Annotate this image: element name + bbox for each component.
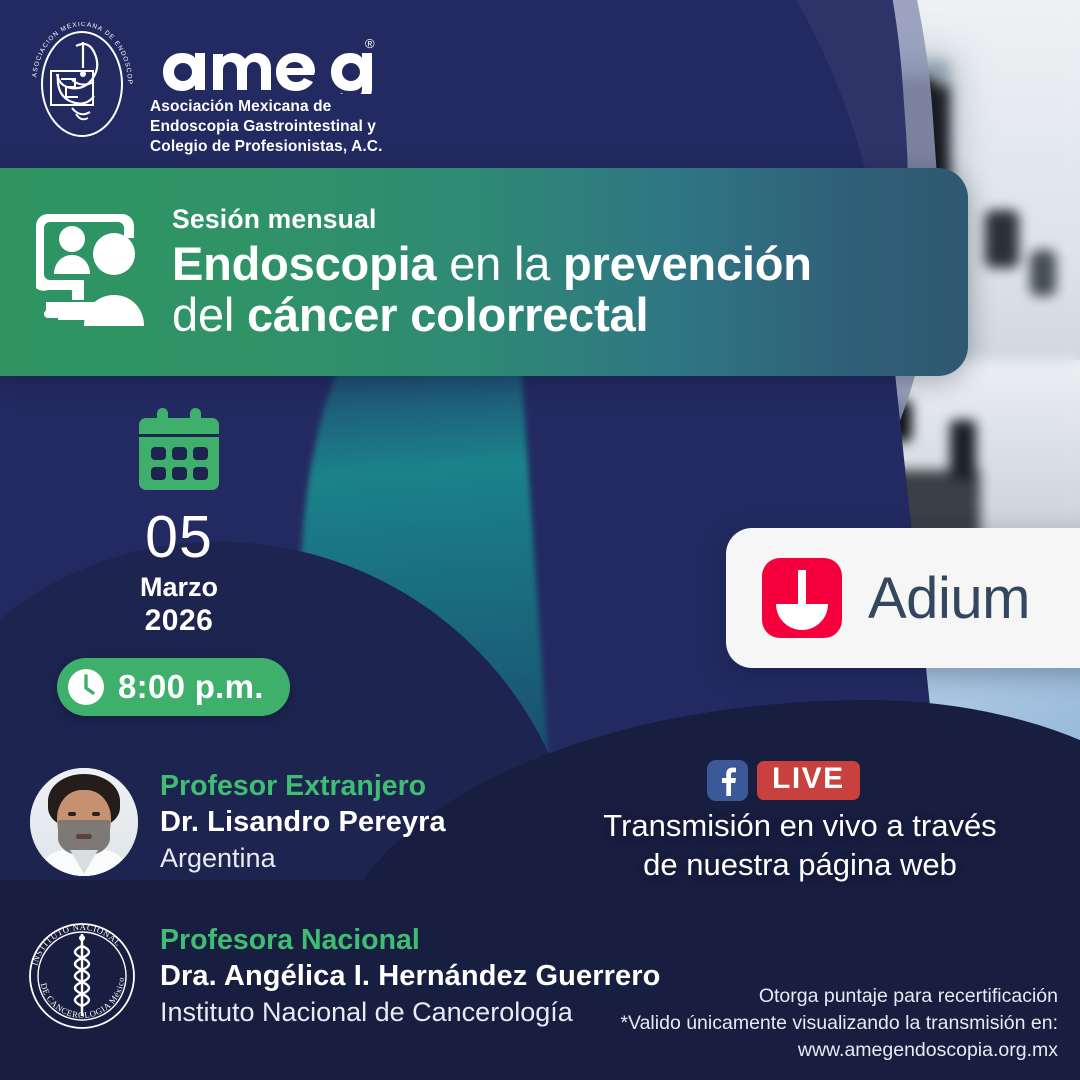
title-connector-2: del (172, 288, 247, 341)
speaker-name: Dra. Angélica I. Hernández Guerrero (160, 959, 660, 994)
event-month: Marzo (126, 572, 232, 604)
clock-icon (66, 667, 106, 707)
certification-footnote: Otorga puntaje para recertificación *Val… (620, 983, 1058, 1064)
ameg-seal-icon: ASOCIACION MEXICANA DE ENDOSCOPIA GASTRO… (28, 22, 136, 146)
ameg-logo-lockup: ASOCIACION MEXICANA DE ENDOSCOPIA GASTRO… (28, 22, 382, 156)
svg-text:®: ® (365, 36, 375, 51)
speaker-foreign-professor: Profesor Extranjero Dr. Lisandro Pereyra… (30, 768, 446, 876)
ameg-wordmark: ® (150, 32, 378, 94)
speaker-role: Profesor Extranjero (160, 770, 446, 803)
sponsor-card-adium: Adium (726, 528, 1080, 668)
event-time: 8:00 p.m. (118, 668, 264, 706)
broadcast-line-2: de nuestra página web (560, 845, 1040, 884)
incan-seal-icon: INSTITUTO NACIONAL DE CANCEROLOGIA Méxic… (26, 920, 138, 1032)
facebook-icon (707, 760, 748, 801)
webinar-screen-people-icon (28, 212, 154, 332)
facebook-live-badge-group: LIVE (707, 760, 860, 801)
broadcast-text: Transmisión en vivo a través de nuestra … (560, 806, 1040, 884)
live-badge: LIVE (757, 761, 860, 800)
avatar (30, 768, 138, 876)
speaker-role: Profesora Nacional (160, 924, 660, 957)
footnote-line-2: *Valido únicamente visualizando la trans… (620, 1010, 1058, 1037)
event-day: 05 (126, 508, 232, 567)
title-word-prevencion: prevención (563, 237, 812, 290)
poster-canvas: ASOCIACION MEXICANA DE ENDOSCOPIA GASTRO… (0, 0, 1080, 1080)
ameg-full-name: Asociación Mexicana de Endoscopia Gastro… (150, 97, 382, 156)
speaker-info: Profesor Extranjero Dr. Lisandro Pereyra… (160, 770, 446, 874)
title-connector-1: en la (436, 237, 563, 290)
banner-text-block: Sesión mensual Endoscopia en la prevenci… (172, 204, 812, 341)
footnote-website: www.amegendoscopia.org.mx (620, 1037, 1058, 1064)
event-year: 2026 (126, 604, 232, 639)
sponsor-name: Adium (868, 565, 1030, 632)
session-kicker: Sesión mensual (172, 204, 812, 235)
title-word-endoscopia: Endoscopia (172, 237, 436, 290)
session-title: Endoscopia en la prevencióndel cáncer co… (172, 239, 812, 341)
calendar-icon (136, 408, 222, 496)
speaker-info: Profesora Nacional Dra. Angélica I. Hern… (160, 924, 660, 1028)
speaker-org: Instituto Nacional de Cancerología (160, 996, 660, 1028)
event-date-block: 05 Marzo 2026 (126, 408, 232, 638)
footnote-line-1: Otorga puntaje para recertificación (620, 983, 1058, 1010)
event-time-pill: 8:00 p.m. (57, 658, 290, 716)
adium-logo-icon (760, 556, 844, 640)
session-title-banner: Sesión mensual Endoscopia en la prevenci… (0, 168, 968, 376)
speaker-national-professor: INSTITUTO NACIONAL DE CANCEROLOGIA Méxic… (26, 920, 660, 1032)
title-word-cancer: cáncer colorrectal (247, 288, 648, 341)
broadcast-line-1: Transmisión en vivo a través (560, 806, 1040, 845)
speaker-name: Dr. Lisandro Pereyra (160, 805, 446, 840)
speaker-org: Argentina (160, 842, 446, 874)
